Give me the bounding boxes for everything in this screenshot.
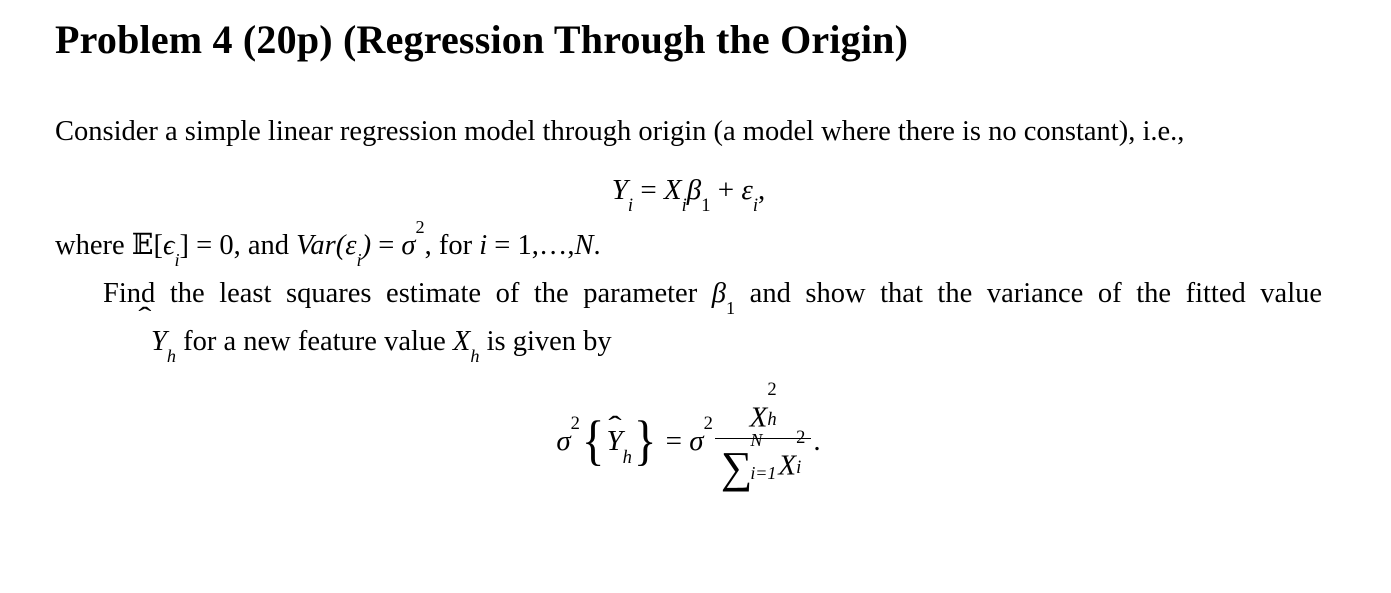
numerator-exponent: 2	[767, 381, 776, 400]
index-range-expression: i = 1,…,N.	[479, 230, 600, 261]
equation-model-epsilon: ε	[741, 174, 752, 206]
variance-open-paren: (	[336, 230, 346, 261]
variance-sigma-sup: 2	[415, 217, 424, 237]
and-word: and	[248, 230, 289, 261]
task-sentence-part-4: is given by	[487, 326, 612, 357]
index-equals: =	[494, 230, 510, 261]
task-yhat-base: Y	[103, 318, 167, 366]
equation-variance-expression: σ2{Ŷh} = σ2X2h∑Ni=1X2i.	[556, 425, 820, 457]
task-xh-base: X	[453, 326, 470, 357]
task-yhat-sub: h	[167, 346, 176, 366]
paragraph-task: Find the least squares estimate of the p…	[55, 270, 1322, 366]
variance-expression: Var(εi) = σ2,	[296, 230, 432, 261]
variance-eq-period: .	[813, 425, 820, 457]
variance-eq-sigma-lhs: σ	[556, 425, 570, 457]
variance-argument: ε	[345, 230, 356, 261]
expectation-open-bracket: [	[153, 230, 163, 261]
denominator-x: X	[778, 449, 796, 481]
expectation-value: 0,	[219, 230, 240, 261]
task-sentence-part-3: for a new feature value	[183, 326, 446, 357]
variance-close-paren: )	[362, 230, 372, 261]
summation-limits: Ni=1	[750, 441, 776, 478]
task-sentence-part-1: Find the least squares estimate of the p…	[103, 278, 697, 309]
equation-model-comma: ,	[758, 174, 765, 206]
paragraph-assumptions: where 𝔼[ϵi] = 0, and Var(εi) = σ2, for i…	[55, 221, 1322, 270]
variance-eq-fraction: X2h∑Ni=1X2i	[715, 394, 812, 490]
task-beta-sub: 1	[726, 298, 735, 318]
equation-model-plus: +	[711, 174, 742, 206]
variance-sigma: σ	[401, 230, 415, 261]
expectation-variable-sub: i	[174, 250, 179, 270]
summation-lower-limit: i=1	[750, 464, 776, 482]
index-range-values: 1,…,	[517, 230, 574, 261]
summation-group: ∑Ni=1	[721, 441, 779, 490]
index-upper-bound: N	[574, 230, 593, 261]
equation-model-epsilon-sub: i	[753, 195, 758, 216]
variance-argument-sub: i	[356, 250, 361, 270]
variance-comma: ,	[425, 230, 432, 261]
expectation-close-bracket: ]	[180, 230, 190, 261]
index-variable: i	[479, 230, 487, 261]
denominator-exponent: 2	[796, 429, 805, 448]
expectation-expression: 𝔼[ϵi] = 0,	[132, 230, 241, 261]
index-period: .	[593, 230, 600, 261]
variance-eq-yhat-sub: h	[623, 447, 632, 468]
expectation-symbol: 𝔼	[132, 228, 154, 261]
task-xh-symbol: Xh	[453, 326, 480, 357]
variance-eq-sigma-rhs-sup: 2	[704, 413, 713, 434]
variance-eq-yhat-group: Ŷ	[606, 425, 622, 458]
equation-model-beta: β	[687, 174, 701, 206]
summation-icon: ∑	[721, 446, 752, 490]
where-word: where	[55, 230, 125, 261]
task-yhat-symbol: Ŷh	[55, 326, 176, 357]
summation-upper-limit: N	[750, 431, 776, 449]
variance-eq-yhat-base: Y	[606, 425, 622, 458]
page-title: Problem 4 (20p) (Regression Through the …	[55, 0, 1322, 63]
numerator-subscript: h	[767, 411, 776, 430]
equation-variance: σ2{Ŷh} = σ2X2h∑Ni=1X2i.	[55, 396, 1322, 492]
numerator-x: X	[750, 402, 768, 434]
document-content: Problem 4 (20p) (Regression Through the …	[55, 0, 1322, 492]
denominator-scripts: 2i	[796, 442, 805, 479]
variance-name: Var	[296, 230, 336, 261]
fraction-denominator: ∑Ni=1X2i	[715, 439, 812, 490]
document-page: Problem 4 (20p) (Regression Through the …	[0, 0, 1391, 593]
equation-model-lhs-sub: i	[628, 195, 633, 216]
numerator-scripts: 2h	[767, 394, 776, 431]
task-beta-symbol: β1	[712, 278, 735, 309]
variance-eq-sigma-rhs: σ	[689, 425, 703, 457]
expectation-variable: ϵ	[163, 230, 174, 261]
for-word: for	[439, 230, 472, 261]
task-beta-letter: β	[712, 278, 726, 309]
task-xh-sub: h	[470, 346, 479, 366]
variance-eq-equals: =	[658, 425, 689, 457]
task-sentence-part-2: and show that the variance of the fitted…	[750, 278, 1322, 309]
paragraph-intro: Consider a simple linear regression mode…	[55, 108, 1322, 156]
denominator-subscript: i	[796, 459, 805, 478]
equation-model-x-sub: i	[682, 195, 687, 216]
task-yhat-accent-group: Ŷ	[55, 318, 167, 366]
variance-equals: =	[378, 230, 394, 261]
equation-model: Yi = Xiβ1 + εi,	[55, 174, 1322, 207]
expectation-equals: =	[196, 230, 212, 261]
equation-model-beta-sub: 1	[701, 195, 710, 216]
equation-model-expression: Yi = Xiβ1 + εi,	[612, 174, 765, 206]
equation-model-x: X	[664, 174, 682, 206]
equation-model-lhs: Y	[612, 174, 628, 206]
variance-eq-sigma-lhs-sup: 2	[571, 413, 580, 434]
equation-model-equals: =	[633, 174, 664, 206]
paragraph-intro-text: Consider a simple linear regression mode…	[55, 116, 1184, 147]
